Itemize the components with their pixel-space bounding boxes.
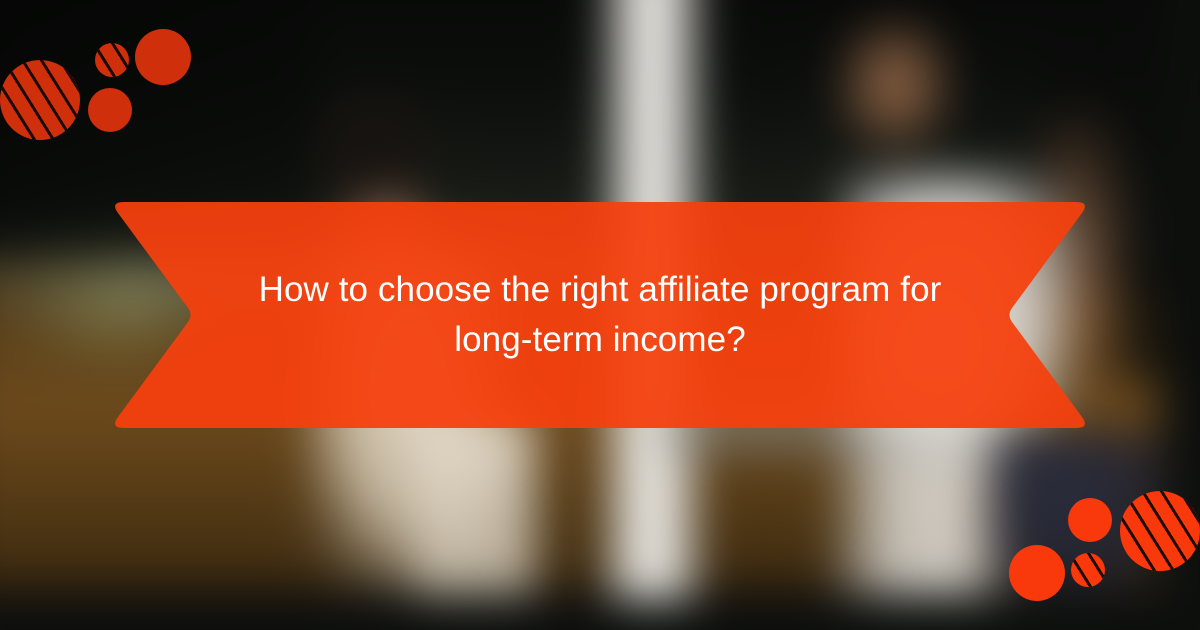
decorative-circle-striped-large [1120,491,1200,571]
circle-stripes [0,60,80,140]
decorative-circle-small-striped [95,43,129,77]
background-person-right-head [840,20,950,150]
circle-stripes [1071,553,1105,587]
decorative-circle-striped-large [0,60,80,140]
decorative-circle-medium-plain [1068,498,1112,542]
background-person-left-legs [415,415,535,595]
ribbon-shape [110,198,1090,432]
decorative-circle-small-striped [1071,553,1105,587]
circle-stripes [95,43,129,77]
banner-card: How to choose the right affiliate progra… [0,0,1200,630]
decorative-circle-large-plain [135,29,191,85]
title-ribbon: How to choose the right affiliate progra… [110,198,1090,432]
circle-stripes [1120,491,1200,571]
decorative-circle-large-plain [1009,545,1065,601]
decorative-circle-medium-plain [88,88,132,132]
